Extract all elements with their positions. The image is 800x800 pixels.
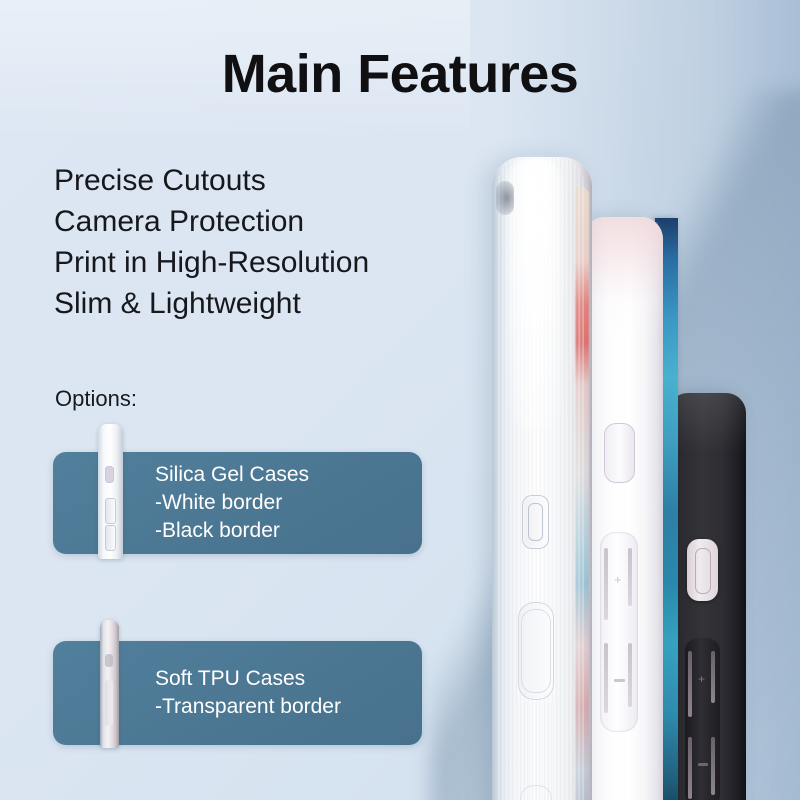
option-card-silica-gel-text: Silica Gel Cases -White border -Black bo… bbox=[155, 452, 309, 554]
white-case-power-button-cutout bbox=[604, 423, 635, 483]
white-case-volume-bar bbox=[604, 643, 608, 713]
transparent-phone-edge-thumbnail bbox=[100, 620, 119, 748]
white-thumbnail-volume-button bbox=[105, 525, 116, 551]
black-case-volume-up-mark: + bbox=[698, 675, 707, 684]
options-label: Options: bbox=[55, 386, 137, 412]
white-case-volume-up-mark: + bbox=[614, 575, 622, 585]
clear-case-power-button-inner bbox=[528, 503, 543, 541]
clear-case-volume-plate-inner bbox=[521, 609, 551, 693]
option-card-title: Silica Gel Cases bbox=[155, 461, 309, 489]
option-card-bullet: -Transparent border bbox=[155, 693, 341, 721]
clear-case-specular-highlight bbox=[506, 159, 562, 429]
black-silica-gel-case: + bbox=[668, 393, 746, 800]
feature-list-item: Print in High-Resolution bbox=[54, 242, 454, 283]
page-title: Main Features bbox=[0, 46, 800, 103]
clear-thumbnail-volume-button bbox=[105, 680, 113, 726]
black-case-volume-down-mark bbox=[698, 763, 708, 766]
white-case-volume-bar bbox=[604, 548, 608, 620]
black-case-volume-bar bbox=[711, 651, 715, 703]
white-case-volume-down-mark bbox=[614, 679, 625, 682]
white-thumbnail-volume-button bbox=[105, 498, 116, 524]
black-case-volume-bar bbox=[711, 737, 715, 795]
product-feature-banner: + + Main Featu bbox=[0, 0, 800, 800]
feature-list-item: Slim & Lightweight bbox=[54, 283, 454, 324]
clear-case-corner-shade bbox=[496, 181, 514, 215]
white-thumbnail-power-button bbox=[105, 466, 114, 483]
white-silica-gel-case: + bbox=[583, 217, 663, 800]
option-card-title: Soft TPU Cases bbox=[155, 665, 341, 693]
black-case-volume-bar bbox=[688, 651, 692, 717]
transparent-tpu-case bbox=[492, 157, 592, 800]
option-card-soft-tpu-text: Soft TPU Cases -Transparent border bbox=[155, 641, 341, 745]
option-card-bullet: -White border bbox=[155, 489, 309, 517]
white-case-volume-bar bbox=[628, 548, 632, 606]
black-case-volume-bar bbox=[688, 737, 692, 799]
option-card-bullet: -Black border bbox=[155, 517, 309, 545]
feature-list-item: Camera Protection bbox=[54, 201, 454, 242]
feature-list-item: Precise Cutouts bbox=[54, 160, 454, 201]
feature-list: Precise Cutouts Camera Protection Print … bbox=[54, 160, 454, 324]
white-phone-edge-thumbnail bbox=[98, 424, 123, 559]
white-case-top-tint bbox=[583, 217, 663, 337]
white-case-volume-bar bbox=[628, 643, 632, 707]
black-case-top-sheen bbox=[668, 393, 746, 453]
black-case-power-button-cutout bbox=[687, 539, 718, 601]
clear-thumbnail-power-button bbox=[105, 654, 113, 667]
